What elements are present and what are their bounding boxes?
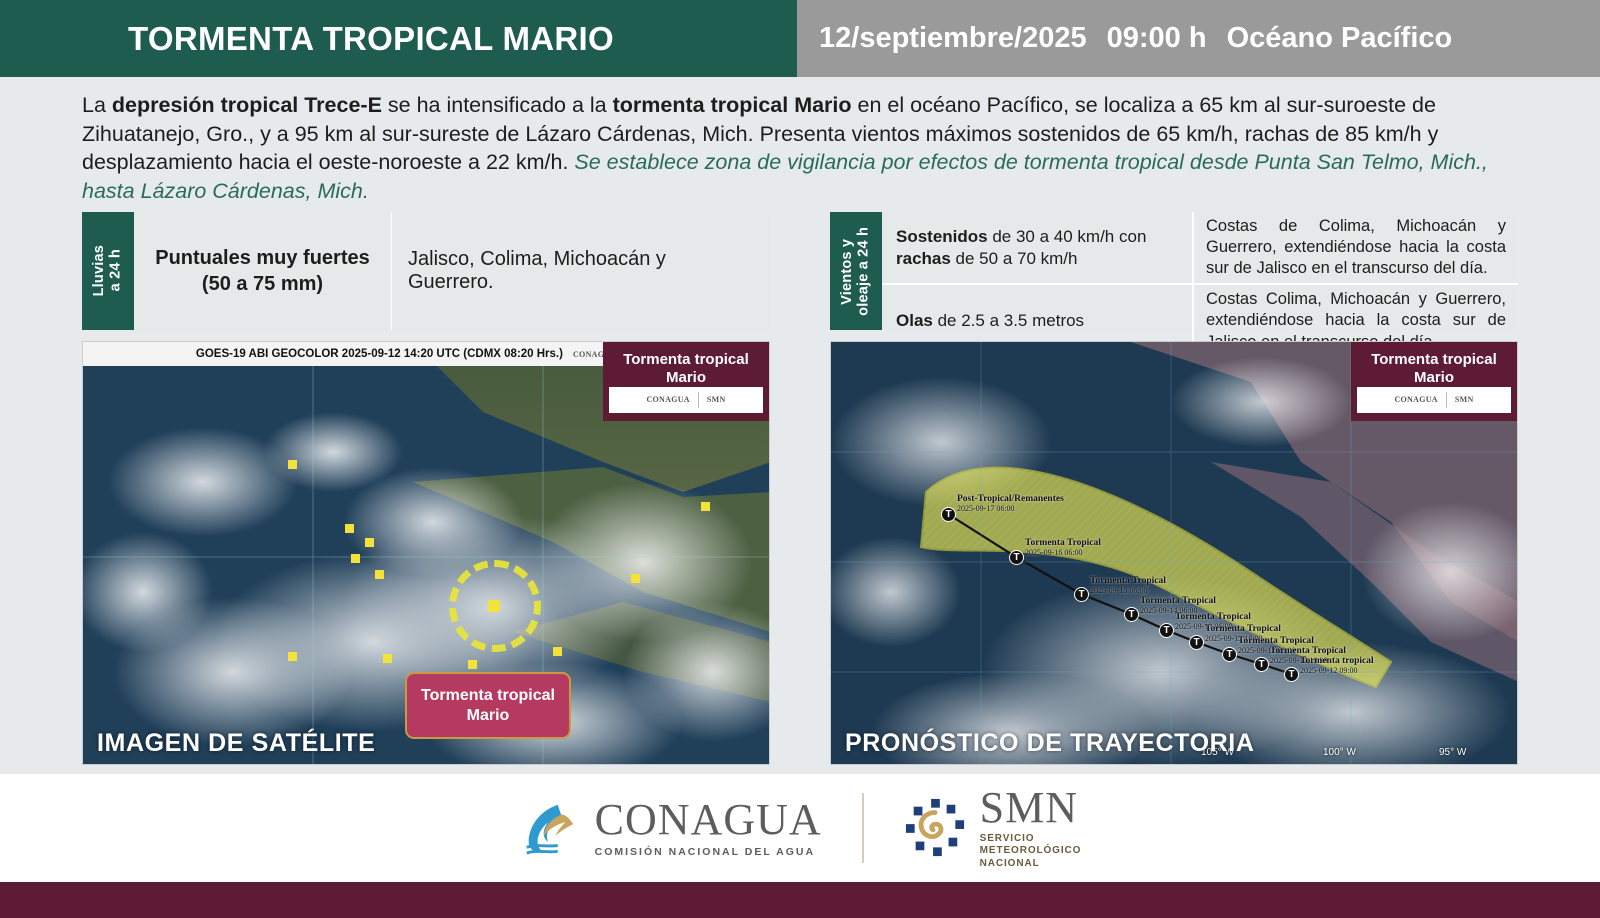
conagua-name: CONAGUA [595, 798, 822, 842]
header-date: 12/septiembre/2025 [819, 22, 1087, 55]
track-point-3[interactable]: T [1124, 607, 1139, 622]
track-storm-badge: Tormenta tropical Mario CONAGUA SMN [1351, 342, 1517, 421]
track-status-8: Tormenta tropical [1300, 656, 1374, 666]
satellite-storm-badge: Tormenta tropical Mario CONAGUA SMN [603, 342, 769, 421]
summary-text-1: La [82, 93, 112, 117]
header-bar: TORMENTA TROPICAL MARIO 12/septiembre/20… [0, 0, 1600, 77]
track-point-2[interactable]: T [1074, 587, 1089, 602]
rain-panel-body: Puntuales muy fuertes (50 a 75 mm) Jalis… [134, 212, 770, 330]
smn-logo: SMN SERVICIO METEOROLÓGICO NACIONAL [904, 786, 1082, 871]
wind-rest-1: de 30 a 40 km/h con [988, 227, 1147, 246]
track-status-2: Tormenta Tropical [1090, 576, 1166, 586]
badge-logo-divider [698, 392, 699, 408]
storm-callout-pill: Tormenta tropical Mario [405, 672, 571, 739]
wind-panel-tab: Vientos y oleaje a 24 h [830, 212, 882, 330]
satellite-map-label: IMAGEN DE SATÉLITE [97, 729, 375, 758]
track-datetime-8: 2025-09-12 09:00 [1300, 666, 1374, 675]
summary-storm: tormenta tropical Mario [613, 93, 852, 117]
track-datetime-1: 2025-09-16 06:00 [1025, 548, 1101, 557]
rain-areas: Jalisco, Colima, Michoacán y Guerrero. [392, 212, 770, 330]
track-status-6: Tormenta Tropical [1238, 636, 1314, 646]
track-point-7[interactable]: T [1254, 657, 1269, 672]
header-basin: Océano Pacífico [1227, 22, 1453, 55]
satellite-storm-badge-label: Tormenta tropical Mario [609, 351, 763, 387]
map-panels: GOES-19 ABI GEOCOLOR 2025-09-12 14:20 UT… [0, 341, 1600, 765]
wind-bold-olas: Olas [896, 311, 933, 330]
track-forecast-map[interactable]: Tormenta tropical Mario CONAGUA SMN T Po… [830, 341, 1518, 765]
track-status-1: Tormenta Tropical [1025, 538, 1101, 548]
longitude-label-100w: 100° W [1323, 747, 1356, 758]
wind-panel-tab-label: Vientos y oleaje a 24 h [839, 227, 872, 316]
wind-area-sustained: Costas de Colima, Michoacán y Guerrero, … [1194, 212, 1518, 283]
track-label-0: Post-Tropical/Remanentes 2025-09-17 06:0… [957, 494, 1064, 513]
satellite-map[interactable]: GOES-19 ABI GEOCOLOR 2025-09-12 14:20 UT… [82, 341, 770, 765]
track-status-5: Tormenta Tropical [1205, 624, 1281, 634]
track-datetime-0: 2025-09-17 06:00 [957, 504, 1064, 513]
badge-conagua-logo: CONAGUA [646, 395, 689, 405]
track-badge-smn-logo: SMN [1455, 395, 1474, 405]
wind-condition-sustained: Sostenidos de 30 a 40 km/h con rachas de… [882, 212, 1194, 283]
wind-row-sustained: Sostenidos de 30 a 40 km/h con rachas de… [882, 212, 1518, 285]
summary-depression: depresión tropical Trece-E [112, 93, 382, 117]
rain-panel-tab: Lluvias a 24 h [82, 212, 134, 330]
wind-bold-rachas: rachas [896, 249, 951, 268]
conagua-eagle-water-icon [519, 797, 581, 859]
wind-bold-sostenidos: Sostenidos [896, 227, 988, 246]
smn-name: SMN [980, 786, 1082, 830]
wind-rest-2: de 50 a 70 km/h [951, 249, 1078, 268]
smn-spiral-icon [904, 797, 966, 859]
track-point-6[interactable]: T [1222, 647, 1237, 662]
bulletin-page: TORMENTA TROPICAL MARIO 12/septiembre/20… [0, 0, 1600, 918]
track-point-5[interactable]: T [1189, 635, 1204, 650]
track-point-8[interactable]: T [1284, 667, 1299, 682]
rain-panel-tab-label: Lluvias a 24 h [91, 245, 124, 296]
track-badge-logo-divider [1446, 392, 1447, 408]
track-status-3: Tormenta Tropical [1140, 596, 1216, 606]
header-time: 09:00 h [1107, 22, 1207, 55]
bottom-accent-bar [0, 882, 1600, 918]
satellite-badge-logos: CONAGUA SMN [609, 387, 763, 413]
waves-rest-1: de 2.5 a 3.5 metros [933, 311, 1084, 330]
conagua-logo-text: CONAGUA COMISIÓN NACIONAL DEL AGUA [595, 798, 822, 858]
track-status-4: Tormenta Tropical [1175, 612, 1251, 622]
track-label-2: Tormenta Tropical 2025-09-15 06:00 [1090, 576, 1166, 595]
rain-category: Puntuales muy fuertes (50 a 75 mm) [134, 212, 392, 330]
page-title: TORMENTA TROPICAL MARIO [0, 0, 797, 77]
track-point-1[interactable]: T [1009, 550, 1024, 565]
rain-panel: Lluvias a 24 h Puntuales muy fuertes (50… [82, 212, 770, 330]
track-status-0: Post-Tropical/Remanentes [957, 494, 1064, 504]
header-meta: 12/septiembre/2025 09:00 h Océano Pacífi… [797, 0, 1600, 77]
track-badge-logos: CONAGUA SMN [1357, 387, 1511, 413]
longitude-label-95w: 95° W [1439, 747, 1466, 758]
track-point-4[interactable]: T [1159, 623, 1174, 638]
footer-logos: CONAGUA COMISIÓN NACIONAL DEL AGUA SMN S… [0, 774, 1600, 882]
wind-panel: Vientos y oleaje a 24 h Sostenidos de 30… [830, 212, 1518, 330]
badge-smn-logo: SMN [707, 395, 726, 405]
wind-panel-rows: Sostenidos de 30 a 40 km/h con rachas de… [882, 212, 1518, 330]
track-datetime-2: 2025-09-15 06:00 [1090, 586, 1166, 595]
track-status-7: Tormenta Tropical [1270, 646, 1346, 656]
track-point-0[interactable]: T [941, 507, 956, 522]
info-panels: Lluvias a 24 h Puntuales muy fuertes (50… [0, 212, 1600, 330]
footer-divider [862, 793, 864, 863]
track-label-1: Tormenta Tropical 2025-09-16 06:00 [1025, 538, 1101, 557]
track-badge-conagua-logo: CONAGUA [1394, 395, 1437, 405]
summary-text-2: se ha intensificado a la [382, 93, 613, 117]
summary-paragraph: La depresión tropical Trece-E se ha inte… [0, 77, 1600, 209]
satellite-caption: GOES-19 ABI GEOCOLOR 2025-09-12 14:20 UT… [196, 348, 563, 360]
conagua-logo: CONAGUA COMISIÓN NACIONAL DEL AGUA [519, 797, 822, 859]
storm-center-dot-icon [488, 600, 500, 612]
track-label-8: Tormenta tropical 2025-09-12 09:00 [1300, 656, 1374, 675]
smn-logo-text: SMN SERVICIO METEOROLÓGICO NACIONAL [980, 786, 1082, 871]
conagua-subtitle: COMISIÓN NACIONAL DEL AGUA [595, 846, 822, 858]
track-storm-badge-label: Tormenta tropical Mario [1357, 351, 1511, 387]
track-map-label: PRONÓSTICO DE TRAYECTORIA [845, 729, 1255, 758]
smn-subtitle: SERVICIO METEOROLÓGICO NACIONAL [980, 833, 1082, 871]
